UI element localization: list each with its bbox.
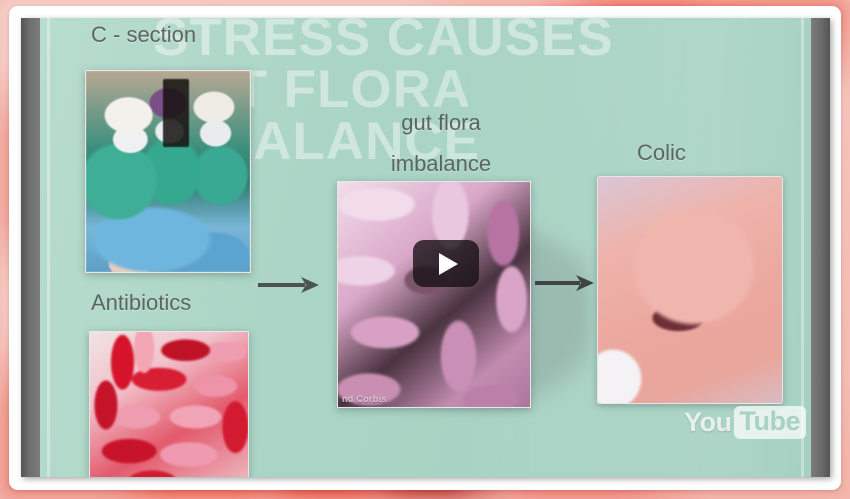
youtube-logo[interactable]: You Tube [684,406,806,439]
slide-seam-left [47,18,50,477]
center-caption: gut flora imbalance [351,102,531,184]
gut-bacteria-photo-content [337,181,531,408]
label-colic: Colic [637,140,686,166]
center-caption-line1: gut flora [351,102,531,143]
flow-arrow-2-icon [534,271,594,295]
youtube-logo-you: You [684,407,732,438]
center-caption-line2: imbalance [351,143,531,184]
play-button[interactable] [413,240,479,287]
label-c-section: C - section [91,22,196,48]
video-viewport[interactable]: STRESS CAUSES GUT FLORA IMBALANCE C - se… [21,18,830,477]
antibiotics-pills-photo [89,331,249,477]
gut-bacteria-photo: nd Corbis [337,181,531,408]
c-section-photo [85,70,251,273]
antibiotics-pills-photo-content [89,331,249,477]
youtube-logo-tube: Tube [734,406,807,439]
slide-edge-right [811,18,830,477]
flow-arrow-1-icon [257,273,319,297]
crying-baby-photo [597,176,783,404]
image-watermark: nd Corbis [342,394,387,404]
c-section-photo-content [86,71,250,272]
play-triangle-icon [439,253,458,275]
crying-baby-photo-content [597,176,783,404]
slide-edge-left [21,18,40,477]
operating-room-doorway [163,79,189,147]
label-antibiotics: Antibiotics [91,290,191,316]
